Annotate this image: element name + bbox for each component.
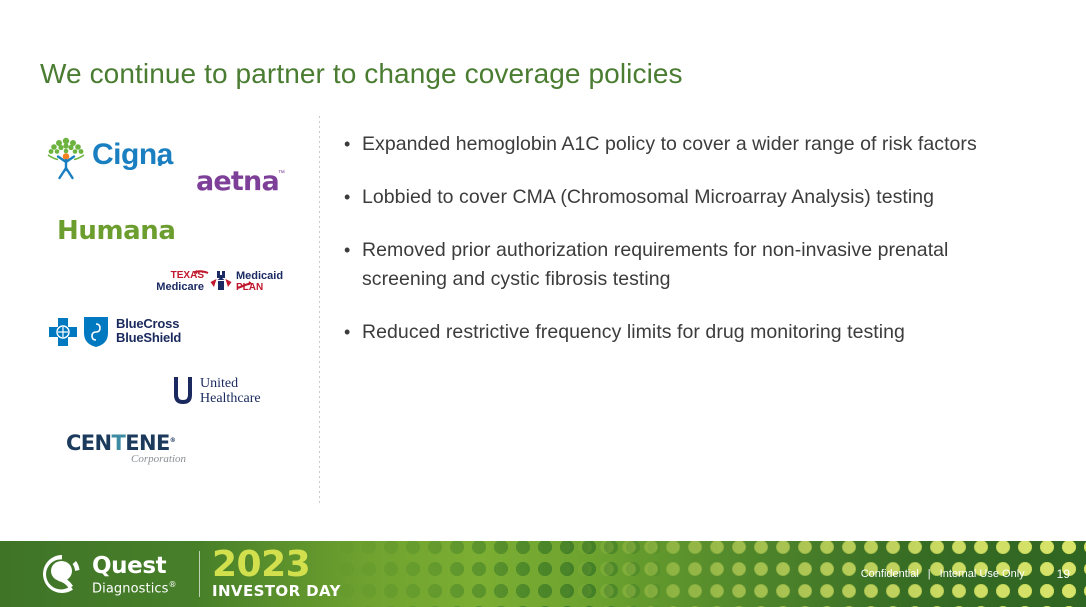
bcbs-wordmark: BlueCross BlueShield — [116, 317, 181, 345]
list-item: • Reduced restrictive frequency limits f… — [344, 318, 1024, 347]
blueshield-label: BlueShield — [116, 331, 181, 345]
event-year: 2023 — [212, 547, 341, 583]
footer-meta: Confidential | Internal Use Only 19 — [766, 541, 1086, 607]
texas-medicare-medicaid-plan-logo: TEXAS Medicare Medicaid PLAN — [150, 268, 290, 300]
centene-trademark-icon: ® — [170, 437, 175, 444]
investor-day-badge: 2023 INVESTOR DAY — [212, 547, 341, 600]
medicaid-label: Medicaid — [236, 270, 292, 282]
united-healthcare-logo: United Healthcare — [172, 374, 292, 412]
centene-cen: CEN — [66, 431, 112, 455]
humana-logo: Humana — [57, 218, 176, 244]
humana-wordmark: Humana — [57, 216, 176, 246]
footer-separator — [199, 551, 200, 597]
bullet-marker-icon: • — [344, 318, 362, 347]
cigna-logo: Cigna — [44, 134, 169, 182]
bullet-list: • Expanded hemoglobin A1C policy to cove… — [344, 130, 1024, 371]
quest-wordmark: Quest Diagnostics® — [92, 554, 177, 596]
meta-separator: | — [928, 568, 931, 580]
blue-cross-icon — [48, 317, 78, 347]
centene-ene: ENE — [125, 431, 169, 455]
cigna-tree-icon — [44, 134, 88, 180]
united-healthcare-u-icon — [172, 376, 194, 406]
blue-shield-icon — [82, 315, 110, 348]
quest-diagnostics-logo: Quest Diagnostics® — [40, 549, 190, 599]
bullet-text: Lobbied to cover CMA (Chromosomal Microa… — [362, 183, 934, 212]
united-label: United — [200, 376, 261, 391]
list-item: • Expanded hemoglobin A1C policy to cove… — [344, 130, 1024, 159]
bullet-text: Expanded hemoglobin A1C policy to cover … — [362, 130, 977, 159]
quest-name: Quest — [92, 554, 177, 578]
list-item: • Removed prior authorization requiremen… — [344, 236, 1024, 294]
internal-use-label: Internal Use Only — [940, 568, 1025, 580]
vertical-divider — [319, 116, 320, 506]
payer-logo-column: Cigna aetna ™ Humana TEXAS Medicare M — [0, 112, 318, 512]
diagnostics-label: Diagnostics — [92, 581, 169, 596]
event-label: INVESTOR DAY — [212, 583, 341, 600]
slide-footer: Quest Diagnostics® 2023 INVESTOR DAY Con… — [0, 541, 1086, 607]
bullet-marker-icon: • — [344, 236, 362, 294]
bullet-marker-icon: • — [344, 183, 362, 212]
centene-t-accent: T — [112, 431, 126, 455]
bullet-marker-icon: • — [344, 130, 362, 159]
bluecross-label: BlueCross — [116, 317, 181, 331]
aetna-wordmark: aetna — [196, 166, 279, 197]
centene-wordmark: CENTENE® — [66, 430, 186, 454]
plan-label: PLAN — [236, 282, 292, 293]
bluecross-blueshield-logo: BlueCross BlueShield — [48, 312, 208, 352]
aetna-logo: aetna ™ — [196, 168, 279, 195]
registered-mark-icon: ® — [169, 580, 177, 589]
centene-logo: CENTENE® Corporation — [66, 430, 186, 464]
aetna-trademark-icon: ™ — [278, 170, 285, 177]
bullet-text: Reduced restrictive frequency limits for… — [362, 318, 905, 347]
page-number: 19 — [1057, 567, 1070, 581]
quest-swoosh-icon — [40, 553, 84, 595]
quest-diagnostics-sub: Diagnostics® — [92, 578, 177, 596]
page-title: We continue to partner to change coverag… — [40, 58, 683, 90]
healthcare-label: Healthcare — [200, 391, 261, 406]
bullet-text: Removed prior authorization requirements… — [362, 236, 1024, 294]
texas-right-text: Medicaid PLAN — [236, 270, 292, 293]
confidential-label: Confidential — [861, 568, 919, 580]
list-item: • Lobbied to cover CMA (Chromosomal Micr… — [344, 183, 1024, 212]
cigna-period — [158, 162, 162, 166]
uhc-wordmark: United Healthcare — [200, 376, 261, 406]
